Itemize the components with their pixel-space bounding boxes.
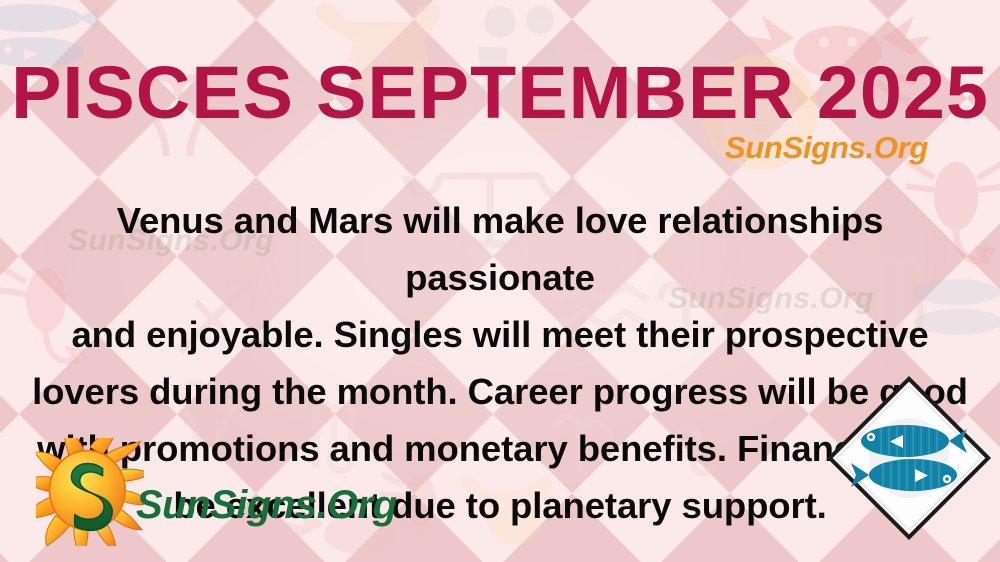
site-logo[interactable]: SunSigns.Org [36, 438, 397, 546]
horoscope-poster: SunSigns.Org SunSigns.Org PISCES SEPTEMB… [0, 0, 1000, 562]
page-title: PISCES SEPTEMBER 2025 [0, 56, 1000, 130]
sun-logo-icon [36, 438, 144, 546]
brand-wordmark-top: SunSigns.Org [725, 130, 928, 166]
pisces-fish-icon [827, 375, 992, 540]
pisces-emblem [827, 375, 992, 540]
body-line: Venus and Mars will make love relationsh… [28, 192, 972, 306]
brand-wordmark-bottom: SunSigns.Org [136, 483, 397, 528]
body-line: and enjoyable. Singles will meet their p… [28, 306, 972, 363]
